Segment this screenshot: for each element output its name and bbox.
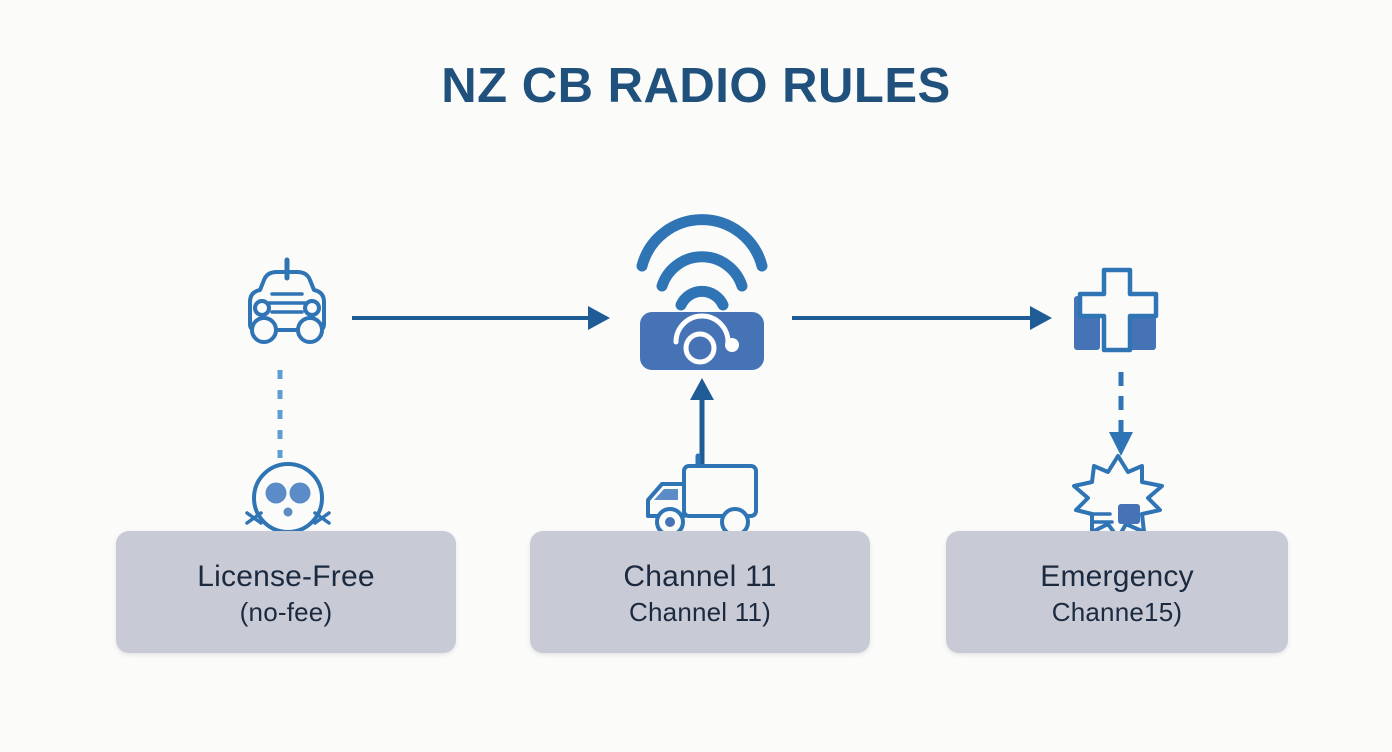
label-box-emergency-primary: Emergency xyxy=(1040,559,1194,596)
car-radio-icon xyxy=(232,258,342,348)
label-box-channel-11[interactable]: Channel 11 Channel 11) xyxy=(530,531,870,653)
dotted-line-car-to-operator xyxy=(272,368,288,460)
label-box-channel-11-primary: Channel 11 xyxy=(623,559,776,596)
page-title: NZ CB RADIO RULES xyxy=(0,58,1392,114)
cb-radio-device-icon xyxy=(628,212,776,372)
operator-headset-face-icon xyxy=(245,455,331,541)
diagram-canvas: NZ CB RADIO RULES xyxy=(0,0,1392,752)
hospital-cross-icon xyxy=(1068,264,1172,356)
arrow-device-to-hospital xyxy=(792,300,1054,336)
label-box-license-free-primary: License-Free xyxy=(197,559,374,596)
emergency-alert-burst-icon xyxy=(1068,452,1168,542)
label-box-emergency[interactable]: Emergency Channe15) xyxy=(946,531,1288,653)
dashed-arrow-hospital-to-alert xyxy=(1105,372,1137,458)
label-box-license-free[interactable]: License-Free (no-fee) xyxy=(116,531,456,653)
label-box-emergency-secondary: Channe15) xyxy=(1052,597,1182,629)
arrow-truck-to-device xyxy=(686,376,718,466)
delivery-truck-icon xyxy=(640,456,760,538)
label-box-license-free-secondary: (no-fee) xyxy=(240,597,333,629)
label-box-channel-11-secondary: Channel 11) xyxy=(629,597,771,629)
arrow-car-to-device xyxy=(352,300,612,336)
